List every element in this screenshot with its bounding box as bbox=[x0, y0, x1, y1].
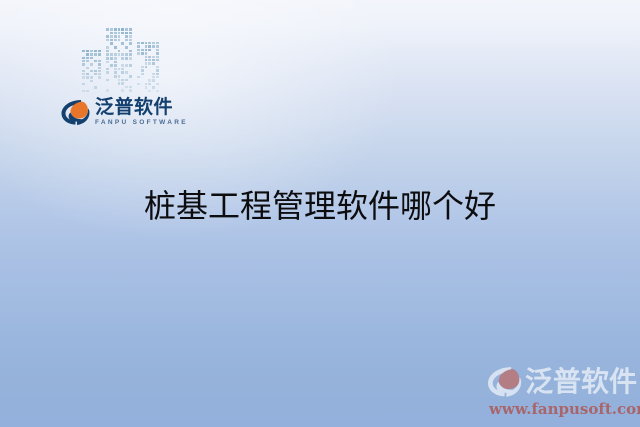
skyline-pixel bbox=[114, 42, 117, 45]
skyline-pixel bbox=[125, 61, 128, 64]
skyline-pixel bbox=[86, 60, 89, 62]
skyline-pixel bbox=[156, 45, 159, 47]
skyline-pixel bbox=[125, 42, 128, 45]
skyline-pixel bbox=[106, 53, 109, 56]
skyline-pixel bbox=[110, 32, 113, 35]
skyline-pixel bbox=[129, 46, 132, 49]
skyline-pixel bbox=[145, 49, 148, 51]
skyline-pixel bbox=[145, 45, 148, 47]
fanpu-watermark-mark-icon bbox=[486, 366, 522, 398]
skyline-pixel bbox=[94, 50, 97, 52]
skyline-pixel bbox=[148, 66, 151, 68]
skyline-pixel bbox=[148, 56, 151, 58]
skyline-pixel bbox=[110, 68, 113, 71]
skyline-pixel bbox=[148, 62, 151, 64]
skyline-pixel bbox=[114, 71, 117, 74]
skyline-pixel bbox=[129, 50, 132, 53]
skyline-pixel bbox=[121, 42, 124, 45]
skyline-pixel bbox=[129, 61, 132, 64]
skyline-pixel bbox=[148, 83, 151, 85]
skyline-pixel bbox=[129, 57, 132, 60]
skyline-tower-left bbox=[82, 50, 101, 92]
fanpu-logo-mark-icon bbox=[60, 99, 90, 126]
skyline-pixel bbox=[114, 46, 117, 49]
skyline-pixel bbox=[82, 57, 85, 59]
skyline-pixel bbox=[129, 53, 132, 56]
skyline-pixel bbox=[82, 53, 85, 55]
skyline-pixel bbox=[86, 53, 89, 55]
skyline-pixel bbox=[141, 79, 144, 81]
skyline-pixel bbox=[94, 57, 97, 59]
skyline-pixel bbox=[106, 42, 109, 45]
skyline-pixel bbox=[148, 69, 151, 71]
skyline-pixel bbox=[106, 46, 109, 49]
skyline-pixel bbox=[114, 86, 117, 89]
skyline-pixel bbox=[86, 86, 89, 88]
skyline-pixel bbox=[148, 79, 151, 81]
skyline-pixel bbox=[148, 76, 151, 78]
skyline-pixel bbox=[129, 86, 132, 89]
skyline-pixel bbox=[152, 66, 155, 68]
skyline-pixel bbox=[114, 50, 117, 53]
skyline-pixel bbox=[98, 57, 101, 59]
skyline-pixel bbox=[90, 63, 93, 65]
page-title: 桩基工程管理软件哪个好 bbox=[0, 186, 640, 226]
skyline-pixel bbox=[114, 57, 117, 60]
skyline-pixel bbox=[110, 89, 113, 92]
brand-name-en: FANPU SOFTWARE bbox=[95, 120, 188, 127]
skyline-pixel bbox=[90, 57, 93, 59]
brand-name-cn: 泛普软件 bbox=[95, 98, 188, 117]
skyline-pixel bbox=[86, 50, 89, 52]
skyline-pixel bbox=[94, 53, 97, 55]
skyline-pixel bbox=[114, 32, 117, 35]
skyline-pixel bbox=[82, 63, 85, 65]
skyline-pixel bbox=[90, 76, 93, 78]
skyline-pixel bbox=[156, 83, 159, 85]
skyline-pixel bbox=[106, 28, 109, 31]
skyline-pixel bbox=[106, 32, 109, 35]
skyline-pixel bbox=[145, 73, 148, 75]
skyline-pixel bbox=[98, 90, 101, 92]
skyline-pixel bbox=[94, 80, 97, 82]
skyline-pixel bbox=[106, 39, 109, 42]
skyline-pixel bbox=[114, 61, 117, 64]
skyline-pixel bbox=[156, 59, 159, 61]
skyline-pixel bbox=[137, 52, 140, 54]
skyline-pixel bbox=[121, 53, 124, 56]
skyline-pixel bbox=[129, 71, 132, 74]
skyline-pixel bbox=[110, 82, 113, 85]
skyline-pixel bbox=[129, 75, 132, 78]
skyline-pixel bbox=[114, 79, 117, 82]
skyline-pixel bbox=[82, 73, 85, 75]
skyline-pixel bbox=[137, 45, 140, 47]
skyline-pixel bbox=[82, 67, 85, 69]
skyline-pixel bbox=[86, 80, 89, 82]
skyline-pixel bbox=[145, 66, 148, 68]
skyline-pixel bbox=[98, 60, 101, 62]
skyline-pixel bbox=[137, 42, 140, 44]
skyline-pixel bbox=[141, 59, 144, 61]
skyline-pixel bbox=[129, 79, 132, 82]
skyline-pixel bbox=[145, 86, 148, 88]
skyline-pixel bbox=[94, 90, 97, 92]
skyline-pixel bbox=[152, 52, 155, 54]
skyline-pixel bbox=[118, 64, 121, 67]
skyline-pixel bbox=[114, 53, 117, 56]
skyline-pixel bbox=[110, 61, 113, 64]
skyline-tower-right bbox=[137, 42, 159, 92]
skyline-pixel bbox=[114, 64, 117, 67]
skyline-pixel bbox=[98, 50, 101, 52]
skyline-pixel bbox=[86, 67, 89, 69]
skyline-pixel bbox=[129, 82, 132, 85]
skyline-pixel bbox=[148, 59, 151, 61]
skyline-pixel bbox=[86, 73, 89, 75]
skyline-pixel bbox=[121, 46, 124, 49]
skyline-pixel bbox=[106, 86, 109, 89]
skyline-pixel bbox=[145, 52, 148, 54]
skyline-pixel bbox=[98, 76, 101, 78]
skyline-pixel bbox=[125, 86, 128, 89]
skyline-pixel bbox=[152, 76, 155, 78]
skyline-pixel bbox=[125, 57, 128, 60]
skyline-pixel bbox=[106, 89, 109, 92]
skyline-pixel bbox=[152, 45, 155, 47]
skyline-pixel bbox=[106, 82, 109, 85]
skyline-pixel bbox=[121, 28, 124, 31]
skyline-pixel bbox=[148, 90, 151, 92]
skyline-pixel bbox=[129, 28, 132, 31]
skyline-pixel bbox=[110, 50, 113, 53]
skyline-pixel bbox=[110, 71, 113, 74]
skyline-pixel bbox=[114, 75, 117, 78]
skyline-pixel bbox=[106, 79, 109, 82]
skyline-pixel bbox=[137, 56, 140, 58]
skyline-pixel bbox=[110, 53, 113, 56]
skyline-pixel bbox=[94, 83, 97, 85]
slide-canvas: 泛普软件 FANPU SOFTWARE 桩基工程管理软件哪个好 泛普软件 www… bbox=[0, 0, 640, 427]
skyline-pixel bbox=[106, 35, 109, 38]
skyline-pixel bbox=[110, 64, 113, 67]
skyline-pixel bbox=[90, 73, 93, 75]
skyline-pixel bbox=[114, 28, 117, 31]
skyline-pixel bbox=[114, 82, 117, 85]
skyline-pixel bbox=[86, 76, 89, 78]
brand-block: 泛普软件 FANPU SOFTWARE bbox=[60, 26, 178, 138]
skyline-pixel bbox=[145, 90, 148, 92]
skyline-pixel bbox=[152, 73, 155, 75]
skyline-pixel bbox=[90, 67, 93, 69]
skyline-pixel bbox=[141, 76, 144, 78]
skyline-pixel bbox=[156, 56, 159, 58]
skyline-pixel bbox=[125, 46, 128, 49]
skyline-pixel bbox=[137, 86, 140, 88]
skyline-pixel bbox=[118, 39, 121, 42]
skyline-pixel bbox=[152, 79, 155, 81]
skyline-pixel bbox=[141, 90, 144, 92]
skyline-pixel bbox=[121, 86, 124, 89]
skyline-pixel bbox=[82, 80, 85, 82]
skyline-pixel bbox=[152, 83, 155, 85]
skyline-pixel bbox=[148, 42, 151, 44]
skyline-pixel bbox=[121, 79, 124, 82]
brand-logo-lockup: 泛普软件 FANPU SOFTWARE bbox=[60, 98, 188, 127]
skyline-pixel bbox=[106, 64, 109, 67]
skyline-pixel bbox=[156, 42, 159, 44]
skyline-pixel bbox=[137, 49, 140, 51]
skyline-pixel bbox=[141, 49, 144, 51]
skyline-pixel bbox=[129, 32, 132, 35]
skyline-pixel bbox=[125, 71, 128, 74]
skyline-pixel bbox=[106, 50, 109, 53]
skyline-pixel bbox=[156, 62, 159, 64]
skyline-pixel bbox=[90, 60, 93, 62]
skyline-pixel bbox=[125, 50, 128, 53]
watermark-url: www.fanpusoft.com bbox=[486, 400, 632, 418]
skyline-pixel bbox=[129, 35, 132, 38]
skyline-pixel bbox=[98, 83, 101, 85]
skyline-pixel bbox=[125, 32, 128, 35]
skyline-pixel bbox=[118, 89, 121, 92]
skyline-pixel bbox=[152, 42, 155, 44]
skyline-pixel bbox=[156, 79, 159, 81]
skyline-pixel bbox=[156, 86, 159, 88]
skyline-pixel bbox=[114, 89, 117, 92]
skyline-pixel bbox=[141, 86, 144, 88]
skyline-pixel bbox=[148, 73, 151, 75]
skyline-pixel bbox=[129, 89, 132, 92]
skyline-pixel bbox=[121, 64, 124, 67]
skyline-pixel bbox=[110, 28, 113, 31]
skyline-pixel bbox=[118, 75, 121, 78]
skyline-pixel bbox=[121, 61, 124, 64]
skyline-pixel bbox=[118, 79, 121, 82]
skyline-pixel bbox=[114, 39, 117, 42]
skyline-pixel bbox=[121, 75, 124, 78]
skyline-pixel bbox=[118, 68, 121, 71]
skyline-pixel bbox=[125, 68, 128, 71]
skyline-pixel bbox=[90, 50, 93, 52]
skyline-pixel bbox=[118, 61, 121, 64]
skyline-pixel bbox=[94, 60, 97, 62]
skyline-pixel bbox=[137, 79, 140, 81]
skyline-pixel bbox=[141, 66, 144, 68]
skyline-pixel bbox=[94, 67, 97, 69]
skyline-pixel bbox=[98, 80, 101, 82]
skyline-pixel bbox=[141, 52, 144, 54]
skyline-pixel bbox=[137, 59, 140, 61]
skyline-pixel bbox=[137, 73, 140, 75]
skyline-pixel bbox=[98, 70, 101, 72]
skyline-pixel bbox=[156, 90, 159, 92]
skyline-pixel bbox=[125, 64, 128, 67]
skyline-pixel bbox=[86, 90, 89, 92]
skyline-pixel bbox=[82, 50, 85, 52]
skyline-pixel bbox=[145, 62, 148, 64]
skyline-pixel bbox=[137, 69, 140, 71]
skyline-pixel bbox=[118, 46, 121, 49]
skyline-pixel bbox=[110, 86, 113, 89]
skyline-pixel bbox=[106, 61, 109, 64]
skyline-pixel bbox=[94, 73, 97, 75]
skyline-pixel bbox=[152, 90, 155, 92]
skyline-pixel bbox=[121, 57, 124, 60]
watermark-brand-name: 泛普软件 bbox=[525, 368, 637, 396]
skyline-pixel bbox=[125, 75, 128, 78]
skyline-pixel bbox=[121, 50, 124, 53]
skyline-pixel bbox=[156, 66, 159, 68]
skyline-pixel bbox=[145, 42, 148, 44]
skyline-pixel bbox=[90, 80, 93, 82]
skyline-pixel bbox=[90, 53, 93, 55]
skyline-pixel bbox=[118, 32, 121, 35]
skyline-pixel bbox=[137, 66, 140, 68]
skyline-pixel bbox=[86, 63, 89, 65]
skyline-pixel bbox=[141, 73, 144, 75]
skyline-pixel bbox=[125, 35, 128, 38]
skyline-pixel bbox=[86, 70, 89, 72]
skyline-pixel bbox=[125, 79, 128, 82]
skyline-pixel bbox=[145, 59, 148, 61]
skyline-pixel bbox=[82, 90, 85, 92]
skyline-pixel bbox=[118, 71, 121, 74]
skyline-pixel bbox=[145, 56, 148, 58]
skyline-pixel bbox=[106, 57, 109, 60]
skyline-pixel bbox=[94, 63, 97, 65]
skyline-pixel bbox=[82, 83, 85, 85]
skyline-pixel bbox=[145, 83, 148, 85]
skyline-pixel bbox=[94, 76, 97, 78]
skyline-pixel bbox=[82, 86, 85, 88]
skyline-pixel bbox=[141, 62, 144, 64]
skyline-pixel bbox=[98, 53, 101, 55]
skyline-pixel bbox=[118, 57, 121, 60]
skyline-pixel bbox=[129, 42, 132, 45]
skyline-pixel bbox=[129, 64, 132, 67]
skyline-pixel bbox=[90, 83, 93, 85]
skyline-pixel bbox=[110, 79, 113, 82]
skyline-pixel bbox=[125, 89, 128, 92]
skyline-pixel bbox=[125, 53, 128, 56]
skyline-pixel bbox=[82, 76, 85, 78]
skyline-pixel bbox=[121, 82, 124, 85]
skyline-pixel bbox=[156, 49, 159, 51]
site-watermark: 泛普软件 www.fanpusoft.com bbox=[486, 365, 632, 419]
skyline-pixel bbox=[141, 83, 144, 85]
mosaic-city-skyline-graphic bbox=[80, 26, 176, 92]
skyline-pixel bbox=[114, 68, 117, 71]
skyline-pixel bbox=[125, 82, 128, 85]
skyline-pixel bbox=[152, 69, 155, 71]
skyline-pixel bbox=[118, 28, 121, 31]
skyline-pixel bbox=[145, 76, 148, 78]
skyline-pixel bbox=[141, 45, 144, 47]
skyline-pixel bbox=[98, 86, 101, 88]
skyline-pixel bbox=[121, 68, 124, 71]
skyline-pixel bbox=[118, 82, 121, 85]
skyline-pixel bbox=[156, 73, 159, 75]
skyline-pixel bbox=[98, 63, 101, 65]
skyline-pixel bbox=[90, 70, 93, 72]
skyline-pixel bbox=[121, 71, 124, 74]
skyline-pixel bbox=[118, 42, 121, 45]
skyline-pixel bbox=[118, 53, 121, 56]
skyline-pixel bbox=[110, 57, 113, 60]
skyline-pixel bbox=[98, 67, 101, 69]
skyline-pixel bbox=[141, 69, 144, 71]
skyline-pixel bbox=[152, 49, 155, 51]
skyline-pixel bbox=[106, 75, 109, 78]
skyline-pixel bbox=[82, 60, 85, 62]
skyline-pixel bbox=[82, 70, 85, 72]
skyline-pixel bbox=[118, 50, 121, 53]
skyline-pixel bbox=[121, 39, 124, 42]
skyline-pixel bbox=[145, 79, 148, 81]
skyline-pixel bbox=[106, 68, 109, 71]
skyline-pixel bbox=[110, 35, 113, 38]
skyline-pixel bbox=[110, 75, 113, 78]
skyline-pixel bbox=[145, 69, 148, 71]
brand-name-group: 泛普软件 FANPU SOFTWARE bbox=[95, 98, 188, 127]
skyline-pixel bbox=[110, 39, 113, 42]
skyline-pixel bbox=[137, 76, 140, 78]
skyline-pixel bbox=[137, 62, 140, 64]
skyline-pixel bbox=[148, 52, 151, 54]
skyline-pixel bbox=[118, 86, 121, 89]
skyline-pixel bbox=[137, 90, 140, 92]
skyline-pixel bbox=[152, 59, 155, 61]
skyline-pixel bbox=[125, 39, 128, 42]
skyline-pixel bbox=[148, 45, 151, 47]
skyline-pixel bbox=[129, 68, 132, 71]
skyline-tower-center bbox=[106, 28, 132, 92]
skyline-pixel bbox=[152, 62, 155, 64]
skyline-pixel bbox=[98, 73, 101, 75]
skyline-pixel bbox=[106, 71, 109, 74]
skyline-pixel bbox=[94, 86, 97, 88]
watermark-logo-row: 泛普软件 bbox=[486, 365, 632, 399]
skyline-pixel bbox=[125, 28, 128, 31]
skyline-pixel bbox=[121, 32, 124, 35]
skyline-pixel bbox=[148, 49, 151, 51]
skyline-pixel bbox=[86, 57, 89, 59]
skyline-pixel bbox=[114, 35, 117, 38]
skyline-pixel bbox=[110, 46, 113, 49]
skyline-pixel bbox=[156, 69, 159, 71]
skyline-pixel bbox=[152, 86, 155, 88]
skyline-pixel bbox=[156, 52, 159, 54]
skyline-pixel bbox=[152, 56, 155, 58]
skyline-pixel bbox=[90, 86, 93, 88]
skyline-pixel bbox=[110, 42, 113, 45]
skyline-pixel bbox=[156, 76, 159, 78]
skyline-pixel bbox=[94, 70, 97, 72]
skyline-pixel bbox=[148, 86, 151, 88]
skyline-pixel bbox=[121, 35, 124, 38]
skyline-pixel bbox=[86, 83, 89, 85]
skyline-pixel bbox=[141, 42, 144, 44]
skyline-pixel bbox=[141, 56, 144, 58]
skyline-pixel bbox=[90, 90, 93, 92]
skyline-pixel bbox=[121, 89, 124, 92]
skyline-pixel bbox=[137, 83, 140, 85]
skyline-pixel bbox=[129, 39, 132, 42]
skyline-pixel bbox=[118, 35, 121, 38]
